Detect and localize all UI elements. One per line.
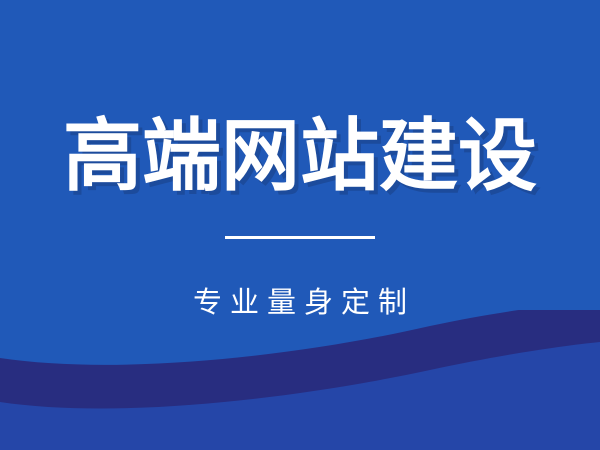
- banner-subheadline: 专业量身定制: [0, 288, 600, 320]
- promo-banner: 高端网站建设 专业量身定制: [0, 0, 600, 450]
- banner-headline: 高端网站建设: [0, 116, 600, 195]
- banner-content: 高端网站建设 专业量身定制: [0, 0, 600, 450]
- divider-wrapper: [0, 236, 600, 239]
- headline-divider: [225, 236, 375, 239]
